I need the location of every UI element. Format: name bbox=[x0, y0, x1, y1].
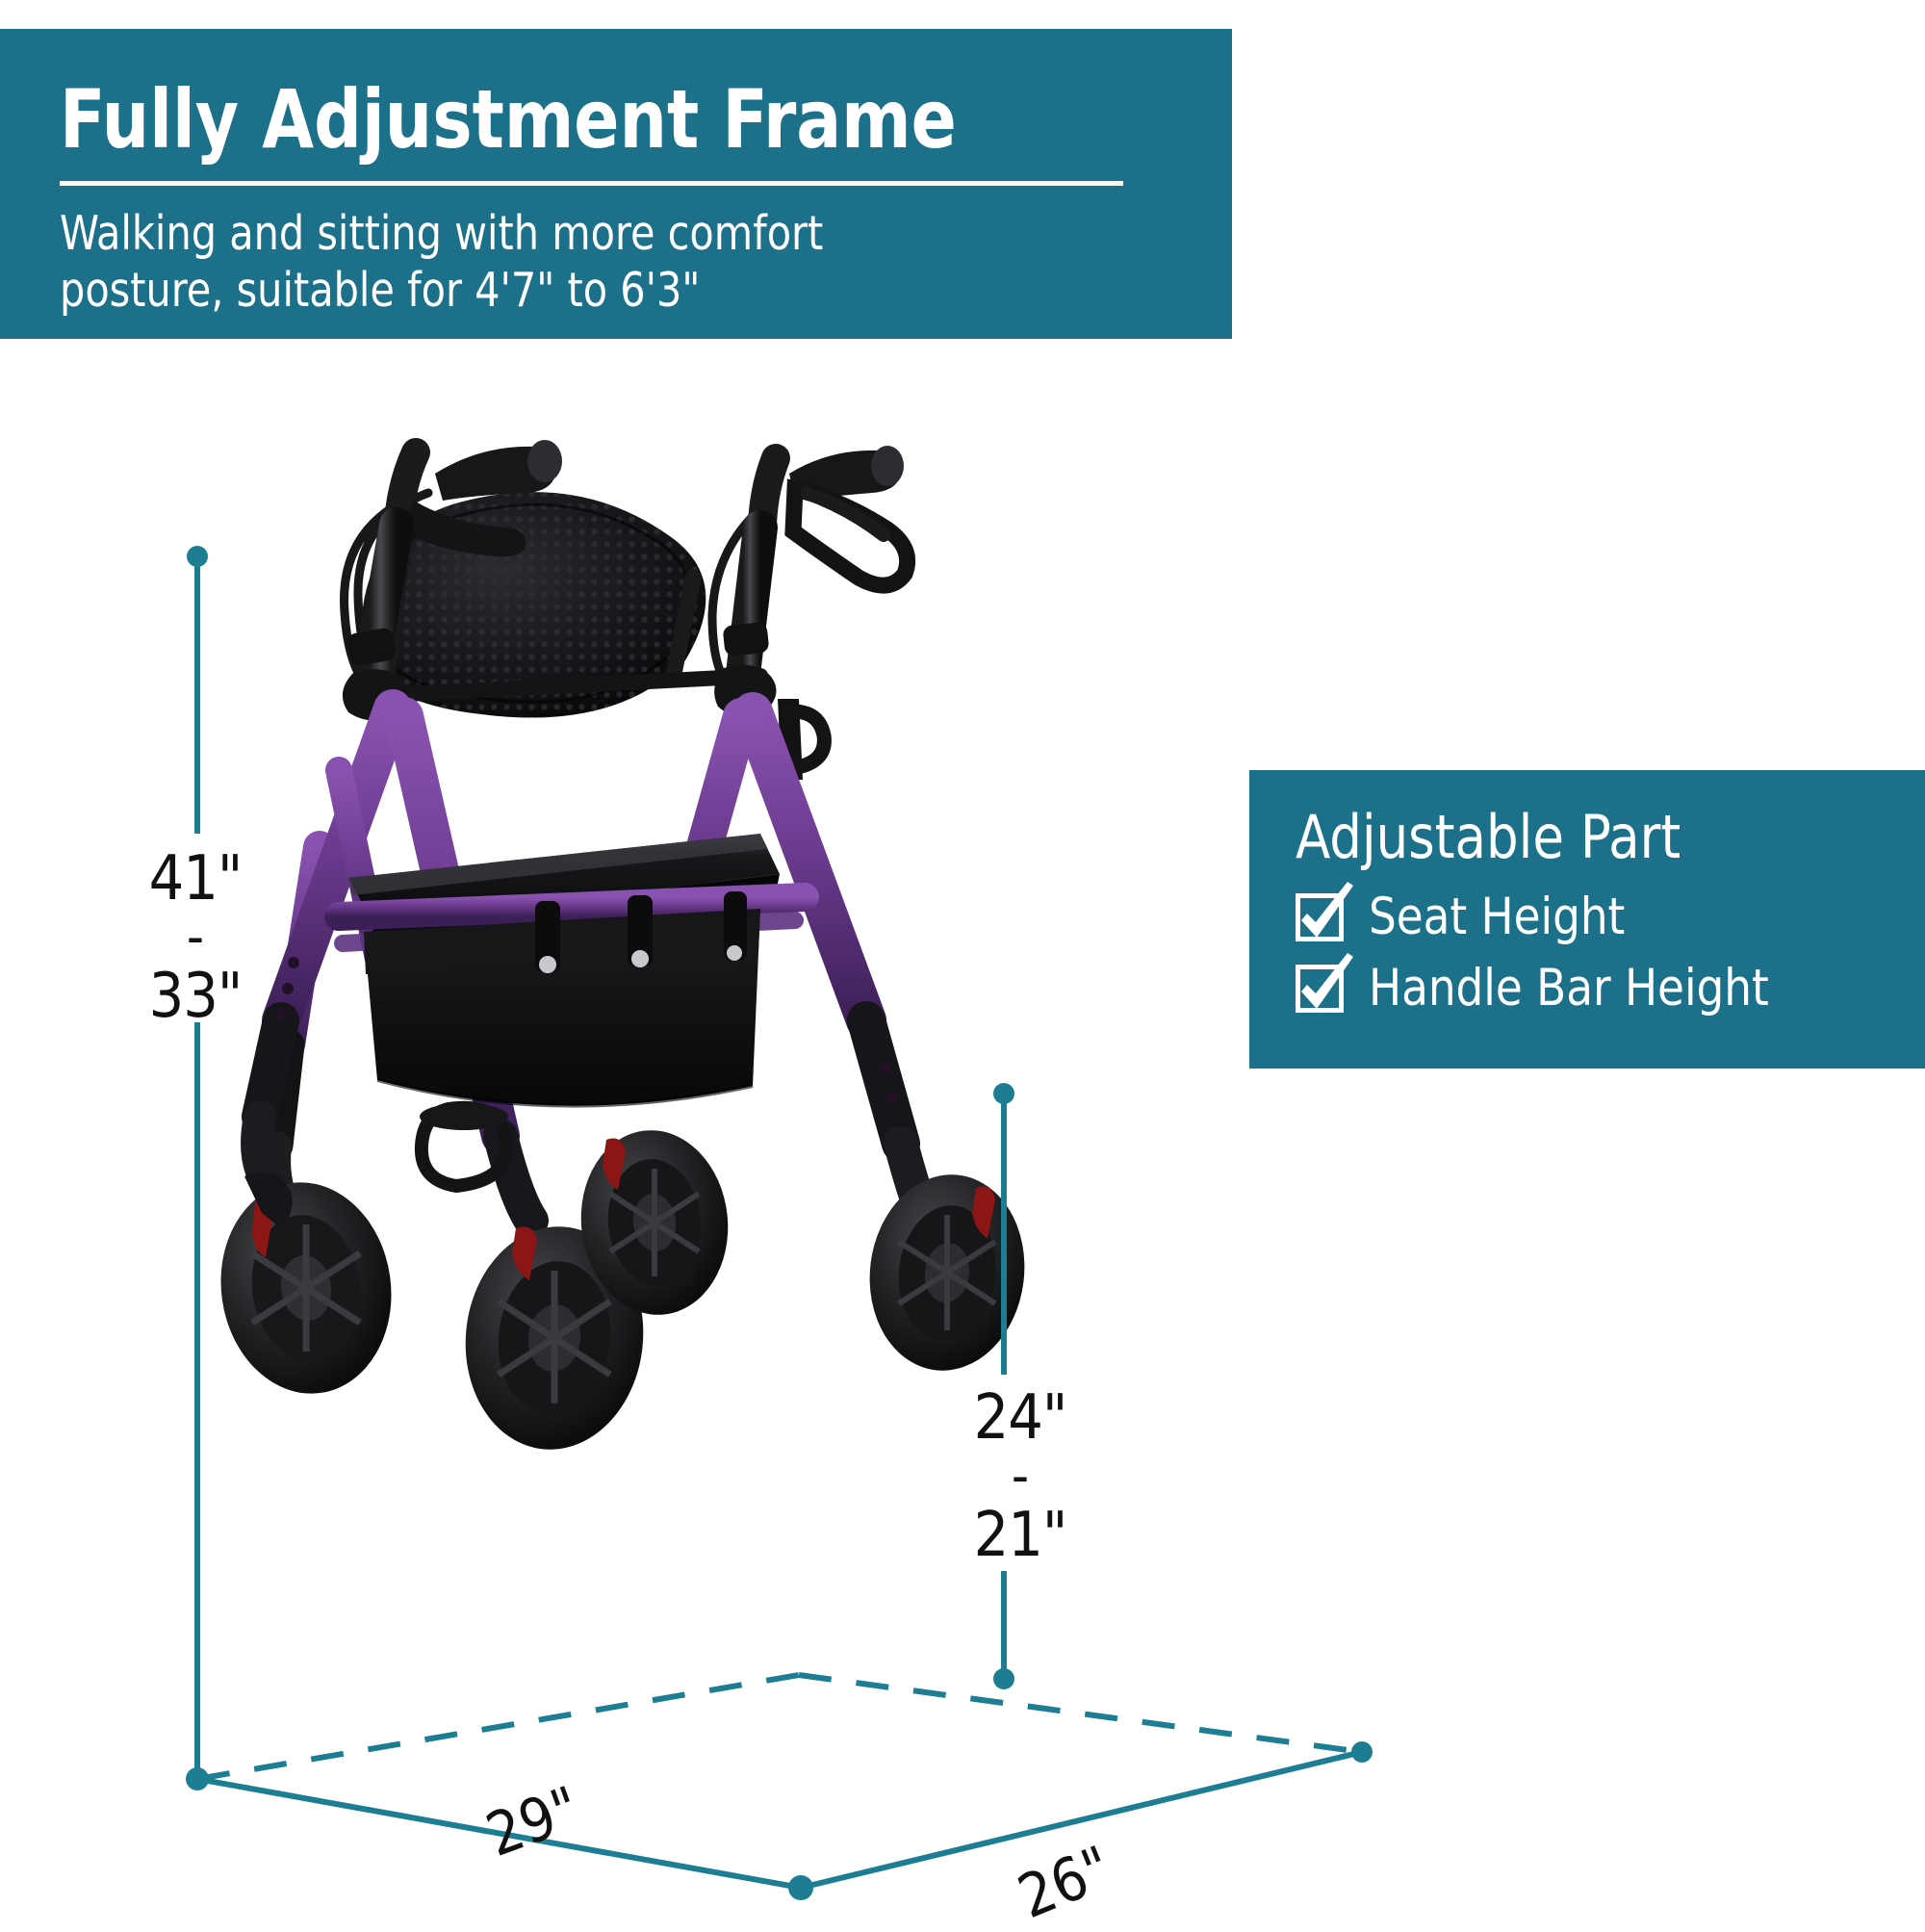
seat-height-max: 24" bbox=[943, 1386, 1097, 1450]
seat-height-min: 21" bbox=[943, 1504, 1097, 1567]
handle-height-max: 41" bbox=[114, 847, 277, 911]
dimension-ground-box bbox=[197, 1675, 1373, 1900]
checkbox-checked-icon bbox=[1296, 965, 1344, 1013]
handle-height-min: 33" bbox=[114, 965, 277, 1028]
seat-height-dash: - bbox=[943, 1450, 1097, 1504]
handle-height-dash: - bbox=[114, 911, 277, 965]
list-item: Seat Height bbox=[1296, 889, 1925, 945]
adjustable-item-label-handle-bar-height: Handle Bar Height bbox=[1369, 961, 1769, 1017]
adjustable-part-panel: Adjustable Part Seat Height Handle Bar H… bbox=[1249, 770, 1925, 1069]
adjustable-part-list: Seat Height Handle Bar Height bbox=[1296, 889, 1925, 1017]
adjustable-item-label-seat-height: Seat Height bbox=[1369, 889, 1625, 945]
dimension-label-seat-height: 24" - 21" bbox=[943, 1386, 1097, 1567]
checkbox-checked-icon bbox=[1296, 893, 1344, 941]
dimension-line-height bbox=[186, 546, 209, 1790]
list-item: Handle Bar Height bbox=[1296, 961, 1925, 1017]
dimension-label-handle-height: 41" - 33" bbox=[114, 847, 277, 1028]
adjustable-part-title: Adjustable Part bbox=[1296, 803, 1893, 872]
